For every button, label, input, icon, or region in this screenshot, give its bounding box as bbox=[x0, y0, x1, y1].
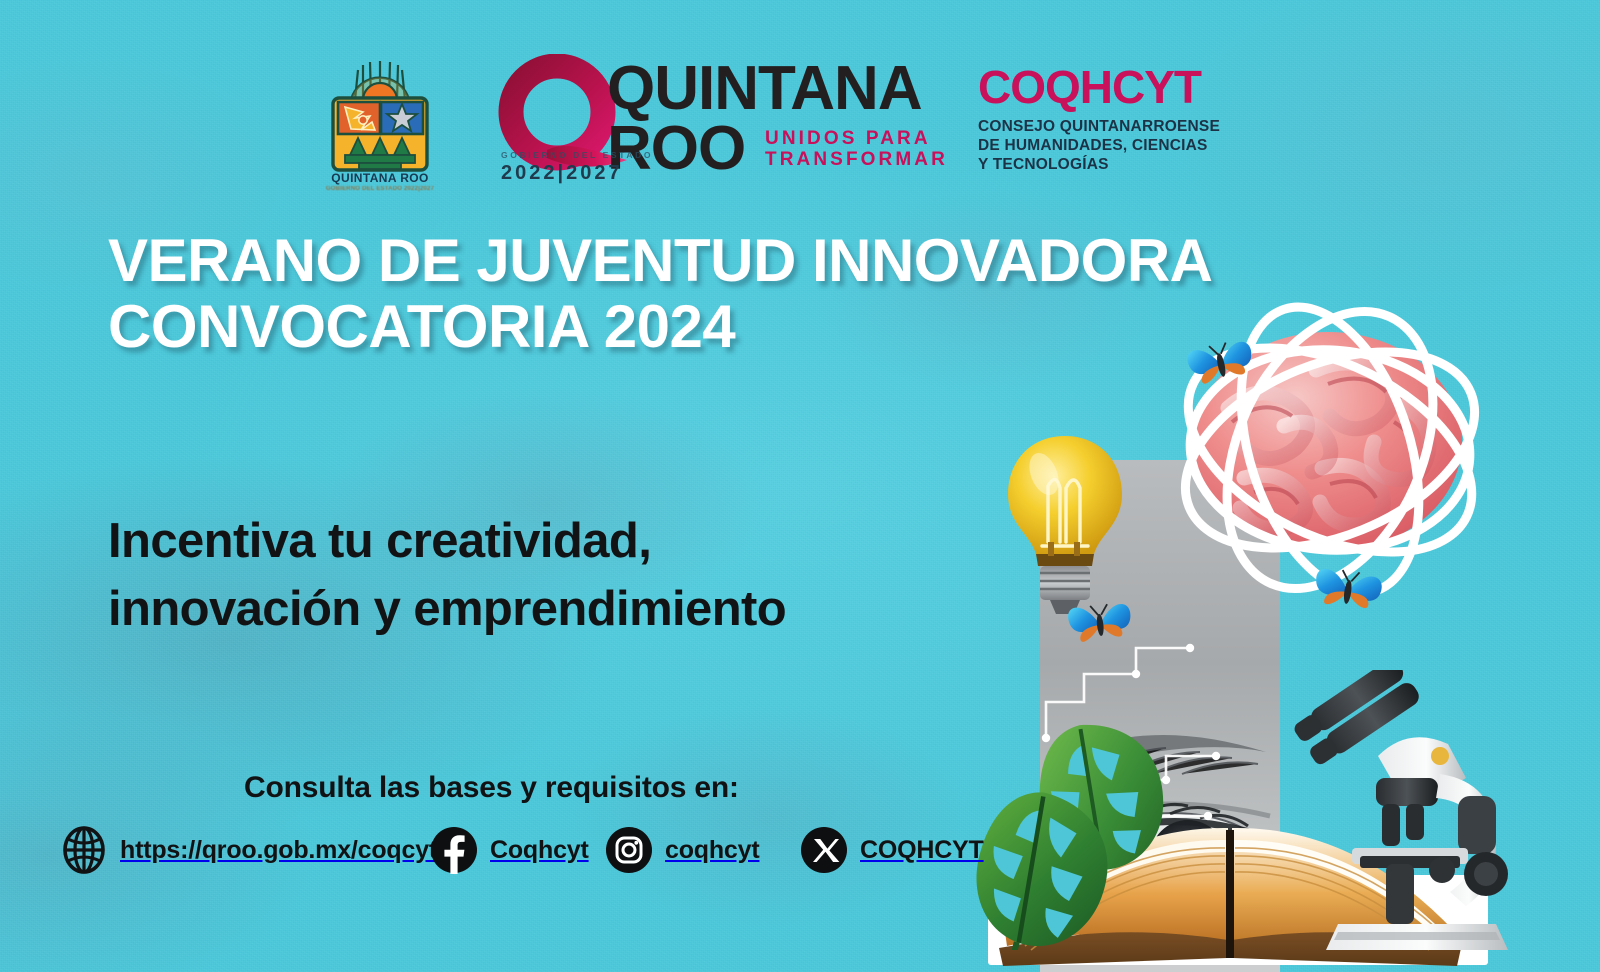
microscope-image bbox=[1290, 670, 1520, 960]
wordmark-tagline: UNIDOS PARA TRANSFORMAR bbox=[765, 128, 948, 171]
instagram-icon bbox=[605, 826, 653, 874]
link-instagram[interactable]: coqhcyt bbox=[605, 820, 759, 880]
coat-of-arms-subtitle: GOBIERNO DEL ESTADO 2022|2027 bbox=[313, 186, 447, 192]
page-subtitle-line-2: innovación y emprendimiento bbox=[108, 576, 1008, 644]
link-x-label: COQHCYT bbox=[860, 836, 984, 865]
facebook-icon bbox=[430, 826, 478, 874]
coqhcyt-acronym: COQHCYT bbox=[978, 64, 1278, 110]
link-facebook[interactable]: Coqhcyt bbox=[430, 820, 589, 880]
link-instagram-label: coqhcyt bbox=[665, 836, 759, 865]
coqhcyt-full-name: CONSEJO QUINTANARROENSE DE HUMANIDADES, … bbox=[978, 118, 1278, 175]
tagline-line-2: TRANSFORMAR bbox=[765, 149, 948, 170]
page-subtitle-line-1: Incentiva tu creatividad, bbox=[108, 508, 1008, 576]
coat-of-arms-icon bbox=[325, 56, 435, 174]
link-website[interactable]: https://qroo.gob.mx/coqcyt/ bbox=[60, 820, 444, 880]
science-collage bbox=[960, 300, 1600, 972]
wordmark-quintana: QUINTANA bbox=[607, 58, 922, 120]
x-twitter-icon bbox=[800, 826, 848, 874]
monstera-leaf-image bbox=[965, 720, 1175, 950]
link-facebook-label: Coqhcyt bbox=[490, 836, 589, 865]
lightbulb-image bbox=[1000, 430, 1130, 620]
link-website-label: https://qroo.gob.mx/coqcyt/ bbox=[120, 836, 444, 865]
poster-canvas: QUINTANA ROO GOBIERNO DEL ESTADO 2022|20… bbox=[0, 0, 1600, 972]
globe-icon bbox=[60, 826, 108, 874]
coat-of-arms-name: QUINTANA ROO bbox=[313, 171, 447, 185]
page-subtitle: Incentiva tu creatividad, innovación y e… bbox=[108, 508, 1008, 643]
wordmark-gobierno-label: GOBIERNO DEL ESTADO bbox=[501, 150, 653, 160]
butterfly-image bbox=[1062, 591, 1137, 654]
page-title-line-1: VERANO DE JUVENTUD INNOVADORA bbox=[108, 228, 1528, 294]
coqhcyt-name-line-2: DE HUMANIDADES, CIENCIAS bbox=[978, 137, 1278, 156]
coqhcyt-name-line-1: CONSEJO QUINTANARROENSE bbox=[978, 118, 1278, 137]
coqhcyt-name-line-3: Y TECNOLOGÍAS bbox=[978, 156, 1278, 175]
consulta-label: Consulta las bases y requisitos en: bbox=[244, 771, 739, 805]
wordmark-years: 2022|2027 bbox=[501, 162, 623, 185]
butterfly-image bbox=[1306, 555, 1390, 625]
link-x-twitter[interactable]: COQHCYT bbox=[800, 820, 984, 880]
quintana-roo-coat-of-arms: QUINTANA ROO GOBIERNO DEL ESTADO 2022|20… bbox=[325, 56, 435, 201]
coqhcyt-logo: COQHCYT CONSEJO QUINTANARROENSE DE HUMAN… bbox=[978, 64, 1278, 175]
quintana-roo-wordmark: QUINTANA ROO GOBIERNO DEL ESTADO 2022|20… bbox=[495, 46, 935, 196]
logo-row: QUINTANA ROO GOBIERNO DEL ESTADO 2022|20… bbox=[0, 46, 1290, 196]
tagline-line-1: UNIDOS PARA bbox=[765, 128, 948, 149]
wordmark-roo: ROO bbox=[607, 118, 745, 180]
